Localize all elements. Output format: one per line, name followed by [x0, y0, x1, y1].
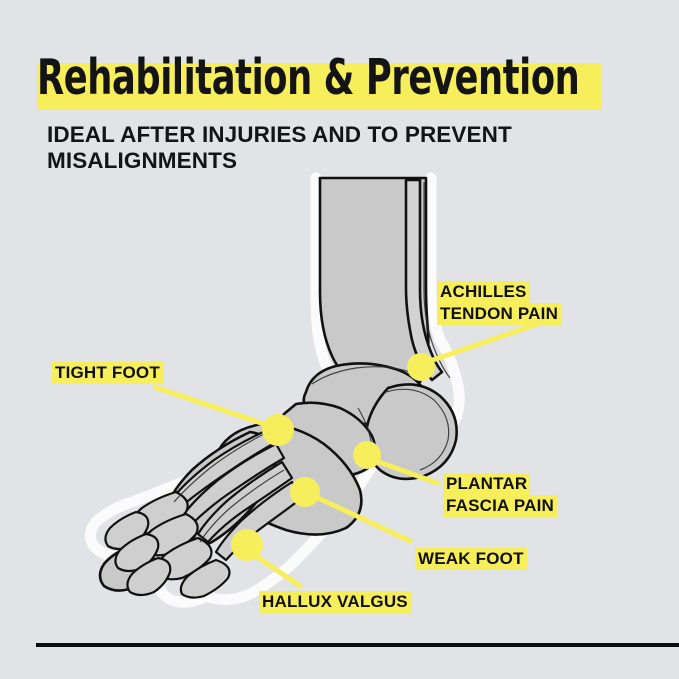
hotspot-dot-weak-foot[interactable]	[290, 477, 320, 507]
callout-text-line: HALLUX VALGUS	[259, 591, 411, 613]
infographic-canvas: Rehabilitation & Prevention IDEAL AFTER …	[0, 0, 679, 679]
callout-label-hallux-valgus: HALLUX VALGUS	[259, 591, 411, 613]
callout-text-line: PLANTAR	[443, 473, 530, 495]
callout-text-line: FASCIA PAIN	[443, 495, 557, 517]
callout-text-line: TIGHT FOOT	[52, 362, 163, 384]
callout-text-line: WEAK FOOT	[415, 548, 527, 570]
callout-label-plantar-fascia-pain: PLANTARFASCIA PAIN	[443, 473, 557, 517]
callout-label-weak-foot: WEAK FOOT	[415, 548, 527, 570]
callout-label-tight-foot: TIGHT FOOT	[52, 362, 163, 384]
leader-line-tight-foot	[155, 387, 264, 424]
callout-text-line: TENDON PAIN	[437, 303, 561, 325]
hotspot-dot-tight-foot[interactable]	[262, 414, 294, 446]
leader-line-achilles-tendon-pain	[433, 323, 540, 360]
hotspot-dot-plantar-fascia-pain[interactable]	[353, 441, 381, 469]
footer-divider	[36, 643, 679, 647]
hotspot-dot-hallux-valgus[interactable]	[231, 529, 263, 561]
callout-label-achilles-tendon-pain: ACHILLESTENDON PAIN	[437, 281, 561, 325]
callout-text-line: ACHILLES	[437, 281, 530, 303]
hotspot-dot-achilles-tendon-pain[interactable]	[407, 353, 435, 381]
foot-skeleton-illustration	[0, 0, 679, 679]
